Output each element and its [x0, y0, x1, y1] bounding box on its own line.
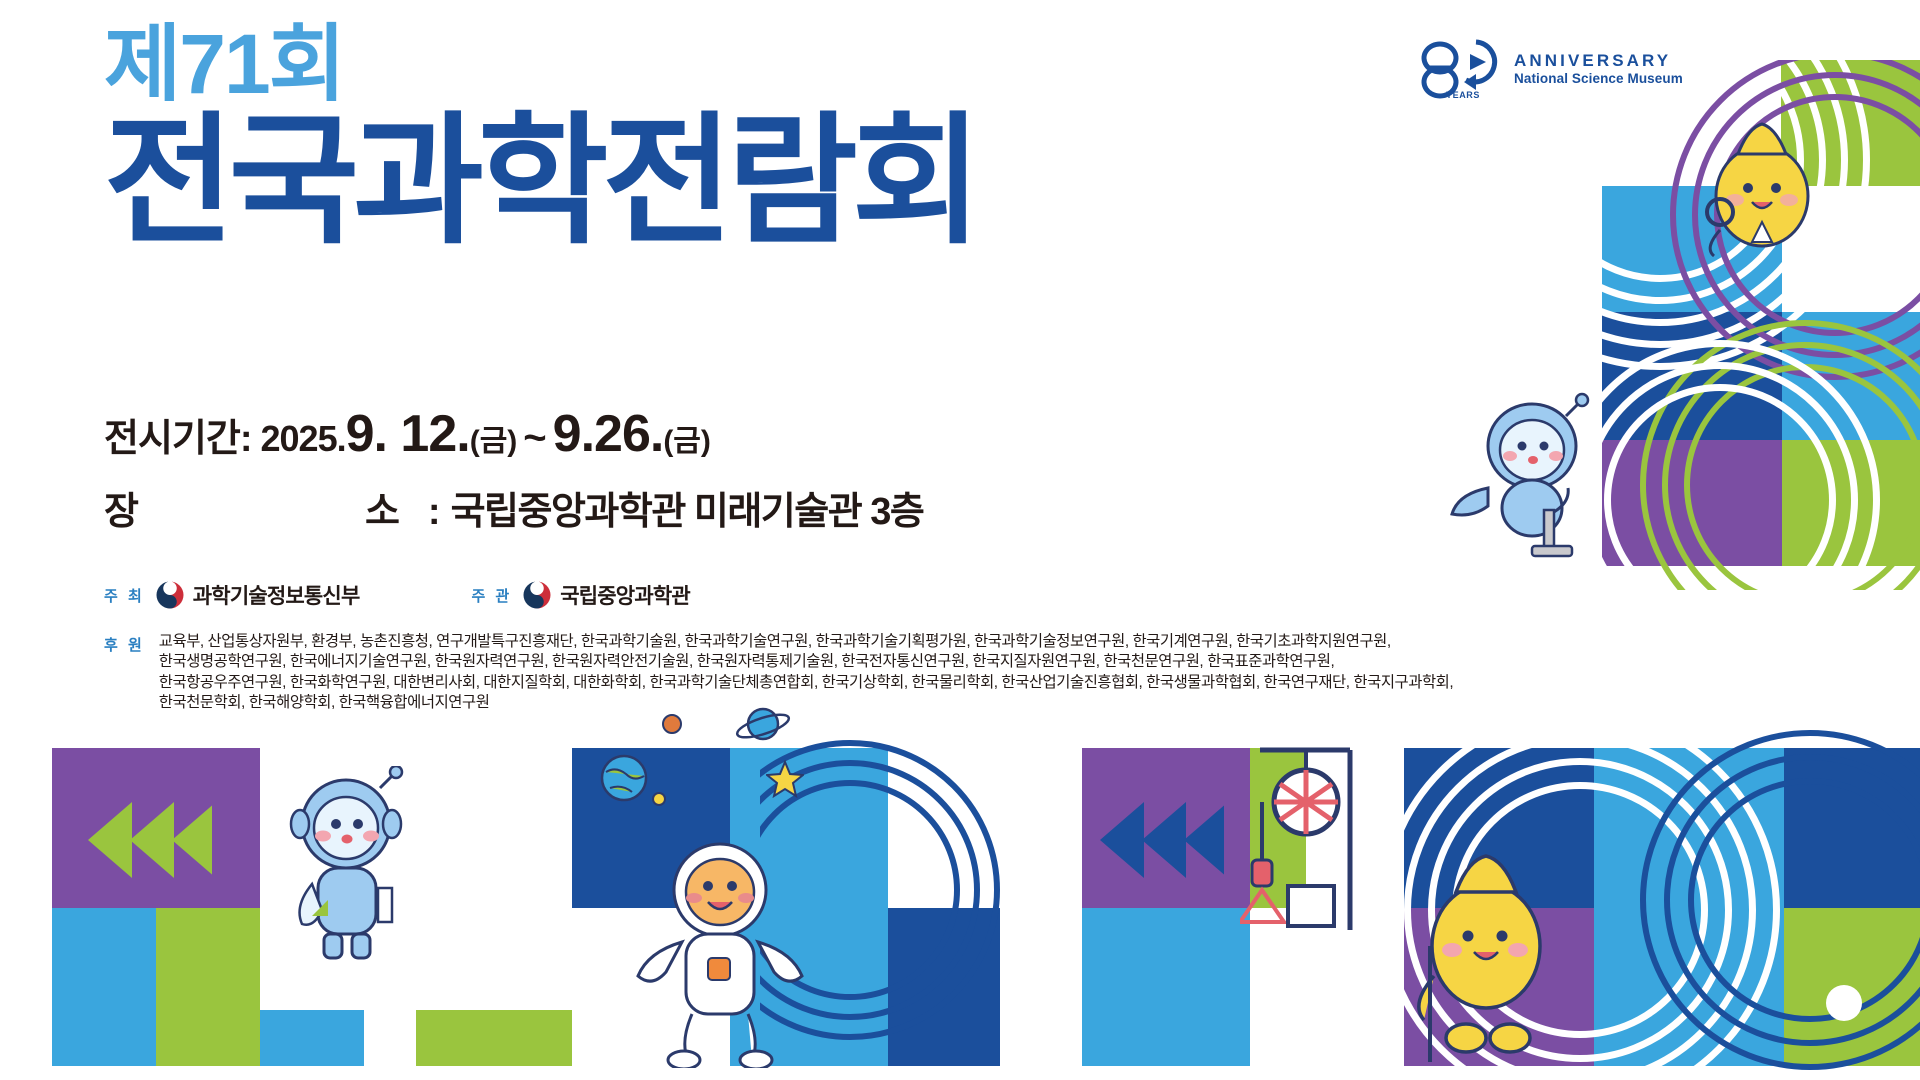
period-year: 2025. — [261, 418, 346, 460]
anniversary-subtitle: National Science Museum — [1514, 72, 1683, 86]
sponsors-list: 교육부, 산업통상자원부, 환경부, 농촌진흥청, 연구개발특구진흥재단, 한국… — [159, 632, 1453, 714]
hosts-block: 주 최 과학기술정보통신부 주 관 국립중앙과학관 — [104, 580, 690, 610]
tile-lightblue-bl-1 — [52, 908, 156, 1066]
chevron-arrows-left — [84, 802, 212, 878]
period-colon: : — [240, 418, 253, 461]
sponsors-line-3: 한국항공우주연구원, 한국화학연구원, 대한변리사회, 대한지질학회, 대한화학… — [159, 673, 1453, 693]
host-organizer-tag: 주 최 — [104, 585, 145, 606]
host-organizer-name: 과학기술정보통신부 — [193, 580, 360, 610]
mascot-astronaut — [620, 828, 820, 1068]
period-start-date: 9. 12. — [346, 404, 470, 464]
anniversary-logo: YEARS ANNIVERSARY National Science Museu… — [1418, 38, 1683, 100]
event-info-block: 전시기간 : 2025. 9. 12. (금) ~ 9.26. (금) 장 소 … — [104, 404, 923, 535]
ring-group-bottom-far-right — [1620, 730, 1920, 1080]
tile-lightblue-bl-2 — [260, 1010, 364, 1066]
planet-small-icon — [660, 712, 684, 736]
host-manager-name: 국립중앙과학관 — [560, 580, 690, 610]
sponsors-line-4: 한국천문학회, 한국해양학회, 한국핵융합에너지연구원 — [159, 693, 1453, 713]
anniversary-80-icon: YEARS — [1418, 38, 1504, 100]
sponsors-line-1: 교육부, 산업통상자원부, 환경부, 농촌진흥청, 연구개발특구진흥재단, 한국… — [159, 632, 1453, 652]
pulley-machine-icon — [1240, 740, 1380, 940]
chevron-arrows-mid — [1096, 802, 1224, 878]
page-title: 전국과학전람회 — [104, 102, 976, 261]
tile-green-bl-1 — [156, 908, 260, 1066]
period-tilde: ~ — [523, 416, 546, 461]
sponsors-tag: 후 원 — [104, 632, 145, 655]
planet-earth-icon — [596, 750, 652, 806]
mascot-yellow-dino-bottom — [1400, 826, 1570, 1066]
tile-lightblue-mid-3 — [1082, 908, 1250, 1066]
taegeuk-icon — [155, 580, 185, 610]
tile-green-mid-1 — [416, 1010, 572, 1066]
venue-label: 장 소 — [104, 480, 428, 535]
mascot-yellow-dino-top — [1690, 100, 1840, 260]
period-end-date: 9.26. — [553, 404, 664, 464]
host-manager-tag: 주 관 — [471, 585, 512, 606]
anniversary-title: ANNIVERSARY — [1514, 52, 1683, 69]
edition-number: 제71회 — [104, 22, 976, 106]
exhibition-period-row: 전시기간 : 2025. 9. 12. (금) ~ 9.26. (금) — [104, 404, 923, 464]
mascot-blue-robot-flask — [268, 766, 428, 966]
ring-group-right-white — [1600, 300, 1920, 600]
venue-row: 장 소 : 국립중앙과학관 미래기술관 3층 — [104, 480, 923, 535]
headline-block: 제71회 전국과학전람회 — [104, 22, 976, 261]
svg-text:YEARS: YEARS — [1446, 90, 1480, 100]
venue-colon: : — [428, 491, 441, 534]
period-end-dow: (금) — [663, 416, 711, 460]
venue-value: 국립중앙과학관 미래기술관 3층 — [451, 480, 924, 535]
star-icon — [766, 760, 804, 798]
mascot-blue-robot-microscope — [1448, 390, 1618, 570]
period-label: 전시기간 — [104, 407, 240, 462]
dot-small-icon — [650, 790, 668, 808]
poster-canvas: YEARS ANNIVERSARY National Science Museu… — [0, 0, 1920, 1080]
host-organizer: 주 최 과학기술정보통신부 — [104, 580, 359, 610]
dot-white-bottomright — [1826, 985, 1862, 1021]
taegeuk-icon — [522, 580, 552, 610]
planet-saturn-icon — [734, 700, 792, 748]
sponsors-line-2: 한국생명공학연구원, 한국에너지기술연구원, 한국원자력연구원, 한국원자력안전… — [159, 652, 1453, 672]
host-manager: 주 관 국립중앙과학관 — [471, 580, 689, 610]
period-start-dow: (금) — [470, 416, 518, 460]
